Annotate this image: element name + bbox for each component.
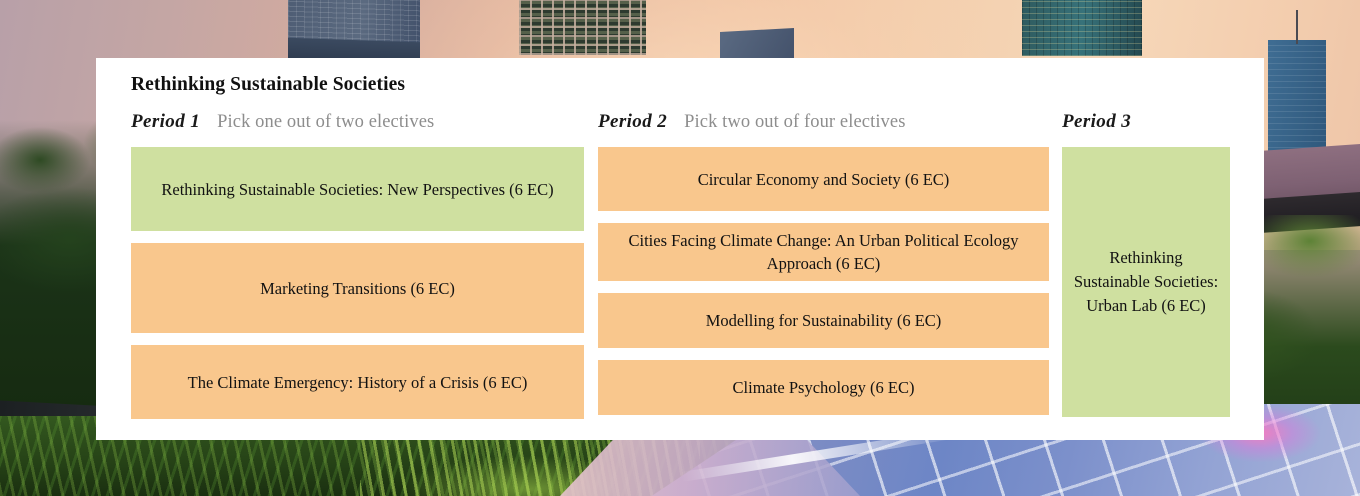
course-card[interactable]: Rethinking Sustainable Societies: New Pe… bbox=[131, 147, 584, 231]
period-3-header: Period 3 bbox=[1062, 111, 1230, 137]
course-card[interactable]: Circular Economy and Society (6 EC) bbox=[598, 147, 1049, 211]
building-small-center bbox=[720, 28, 794, 62]
building-grid-center-frame bbox=[519, 0, 646, 55]
course-card[interactable]: Climate Psychology (6 EC) bbox=[598, 360, 1049, 415]
antenna-mast bbox=[1296, 10, 1298, 44]
period-3-column: Period 3 Rethinking Sustainable Societie… bbox=[1062, 111, 1230, 419]
course-card[interactable]: Modelling for Sustainability (6 EC) bbox=[598, 293, 1049, 348]
period-3-label: Period 3 bbox=[1062, 111, 1131, 133]
programme-overview-card: Rethinking Sustainable Societies Period … bbox=[96, 58, 1264, 440]
periods-container: Period 1 Pick one out of two electives R… bbox=[131, 111, 1230, 419]
period-1-label: Period 1 bbox=[131, 111, 200, 133]
building-teal-right bbox=[1022, 0, 1142, 56]
course-card[interactable]: The Climate Emergency: History of a Cris… bbox=[131, 345, 584, 419]
course-card[interactable]: Rethinking Sustainable Societies: Urban … bbox=[1062, 147, 1230, 417]
period-2-column: Period 2 Pick two out of four electives … bbox=[598, 111, 1049, 419]
period-1-column: Period 1 Pick one out of two electives R… bbox=[131, 111, 584, 419]
period-1-hint: Pick one out of two electives bbox=[217, 112, 434, 133]
page-title: Rethinking Sustainable Societies bbox=[131, 72, 1230, 98]
period-2-hint: Pick two out of four electives bbox=[684, 112, 905, 133]
column-gap bbox=[584, 111, 598, 419]
course-card[interactable]: Marketing Transitions (6 EC) bbox=[131, 243, 584, 333]
course-card[interactable]: Cities Facing Climate Change: An Urban P… bbox=[598, 223, 1049, 281]
column-gap bbox=[1049, 111, 1062, 419]
building-blue-far-right bbox=[1268, 40, 1326, 160]
period-2-label: Period 2 bbox=[598, 111, 667, 133]
period-1-header: Period 1 Pick one out of two electives bbox=[131, 111, 584, 137]
period-2-header: Period 2 Pick two out of four electives bbox=[598, 111, 1049, 137]
